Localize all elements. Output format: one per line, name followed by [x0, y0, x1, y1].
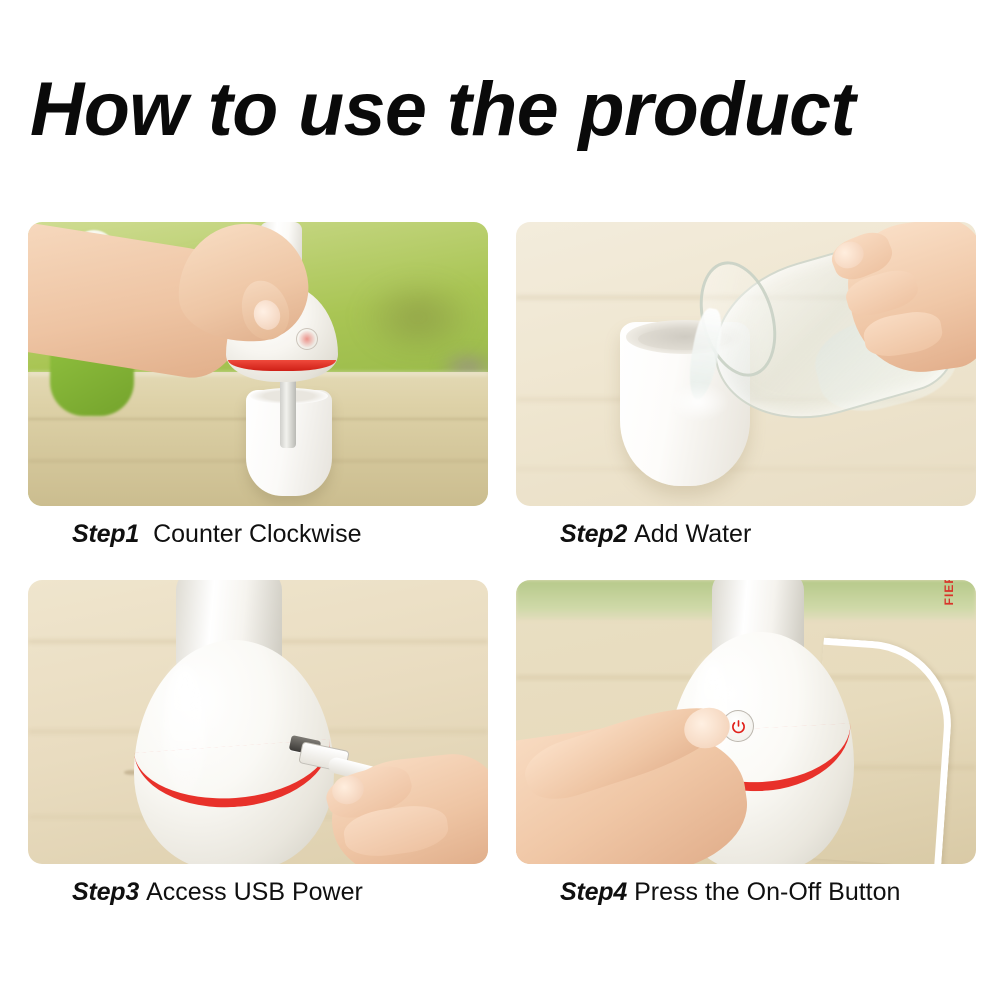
- step-card-1: HUMIDIFIER Step1Counter Clockwise: [28, 222, 488, 562]
- step-caption-4: Step4Press the On-Off Button: [516, 864, 976, 920]
- photo-step2-add-water: [516, 222, 976, 506]
- steps-grid: HUMIDIFIER Step1Counter Clockwise: [28, 222, 976, 920]
- step-card-3: Step3Access USB Power: [28, 580, 488, 920]
- page-title: How to use the product: [30, 68, 971, 152]
- step-number-1: Step1: [72, 520, 139, 548]
- step-caption-1: Step1Counter Clockwise: [28, 506, 488, 562]
- step-number-4: Step4: [560, 878, 627, 906]
- power-button-indicator: [296, 328, 318, 350]
- step-card-2: Step2Add Water: [516, 222, 976, 562]
- step-caption-2: Step2Add Water: [516, 506, 976, 562]
- infographic-page: How to use the product: [0, 0, 1000, 1000]
- wood-grain: [516, 468, 976, 470]
- step-text-2: Add Water: [634, 520, 751, 548]
- photo-step4-press-on-off-button: FIER: [516, 580, 976, 864]
- photo-step1-counter-clockwise: HUMIDIFIER: [28, 222, 488, 506]
- step-text-1: Counter Clockwise: [153, 520, 361, 548]
- step-number-2: Step2: [560, 520, 627, 548]
- step-text-3: Access USB Power: [146, 878, 363, 906]
- step-card-4: FIER: [516, 580, 976, 920]
- step-number-3: Step3: [72, 878, 139, 906]
- power-icon: [731, 719, 746, 734]
- brand-label: FIER: [942, 580, 956, 605]
- photo-step3-access-usb-power: [28, 580, 488, 864]
- background-bokeh: [358, 277, 478, 357]
- step-caption-3: Step3Access USB Power: [28, 864, 488, 920]
- step-text-4: Press the On-Off Button: [634, 878, 900, 906]
- water-splash: [666, 382, 730, 422]
